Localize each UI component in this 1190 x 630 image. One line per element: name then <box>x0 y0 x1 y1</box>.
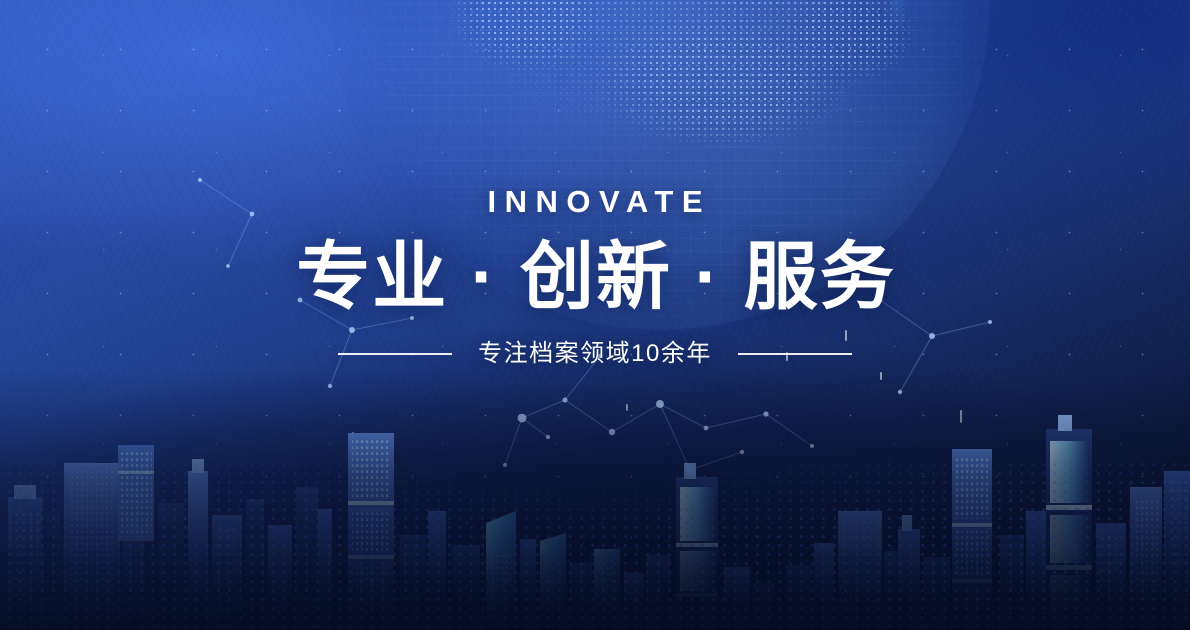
hero-banner: INNOVATE 专业 · 创新 · 服务 专注档案领域10余年 <box>0 0 1190 630</box>
subtitle-text: 专注档案领域10余年 <box>478 342 712 366</box>
subtitle-row: 专注档案领域10余年 <box>0 342 1190 366</box>
divider-line-left <box>338 353 452 355</box>
page-title: 专业 · 创新 · 服务 <box>0 238 1190 316</box>
eyebrow-text: INNOVATE <box>0 186 1190 217</box>
divider-line-right <box>738 353 852 355</box>
hero-text-block: INNOVATE 专业 · 创新 · 服务 专注档案领域10余年 <box>0 186 1190 366</box>
ground-fade-overlay <box>0 370 1190 630</box>
